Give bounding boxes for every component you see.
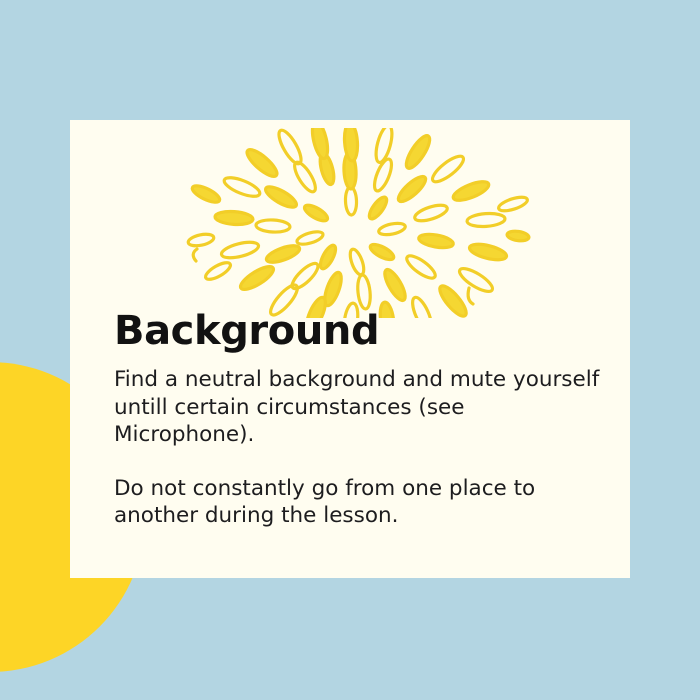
content-card: Background Find a neutral background and… — [70, 120, 630, 578]
page-title: Background — [114, 310, 604, 352]
paragraph-spacer — [114, 449, 604, 475]
body-paragraph-1: Find a neutral background and mute yours… — [114, 366, 604, 449]
text-block: Background Find a neutral background and… — [114, 310, 604, 530]
body-paragraph-2: Do not constantly go from one place to a… — [114, 475, 604, 530]
slide-canvas: Background Find a neutral background and… — [0, 0, 700, 700]
yellow-seed-burst-illustration — [70, 128, 630, 318]
